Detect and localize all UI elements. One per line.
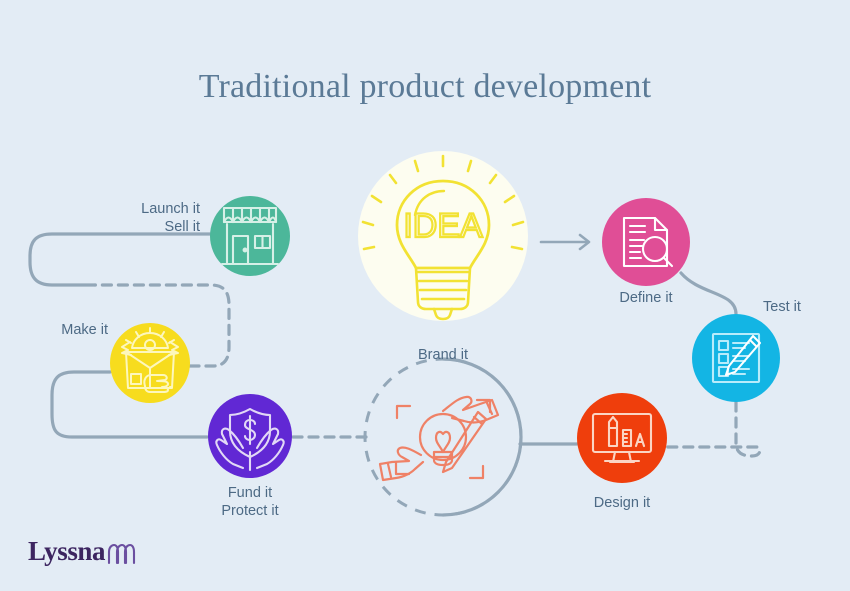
hands-lightbulb-pencil-icon [380,397,498,480]
node-make-it[interactable] [110,323,190,403]
node-brand-it[interactable] [365,359,521,515]
label-brand-it: Brand it [383,346,503,364]
infographic-canvas: Traditional product development [0,0,850,591]
node-fund-protect-it[interactable] [208,394,292,478]
node-design-it[interactable] [577,393,667,483]
label-design-it: Design it [562,494,682,512]
node-icons-layer: IDEA [0,0,850,591]
label-test-it: Test it [763,298,843,316]
node-launch-sell-it[interactable] [210,196,290,276]
node-define-it[interactable] [602,198,690,286]
label-launch-sell-it: Launch it Sell it [105,200,200,236]
logo-wordmark: Lyssna [28,538,105,565]
brand-solid-arc [443,359,521,515]
label-make-it: Make it [28,321,108,339]
idea-text: IDEA [403,207,483,245]
label-define-it: Define it [586,289,706,307]
lightbulb-idea-icon: IDEA [358,151,528,321]
arrow-right-icon [541,235,589,249]
node-test-it[interactable] [692,314,780,402]
lyssna-wave-mark [106,543,136,565]
label-fund-protect-it: Fund it Protect it [190,484,310,520]
lyssna-logo[interactable]: Lyssna [28,538,136,565]
